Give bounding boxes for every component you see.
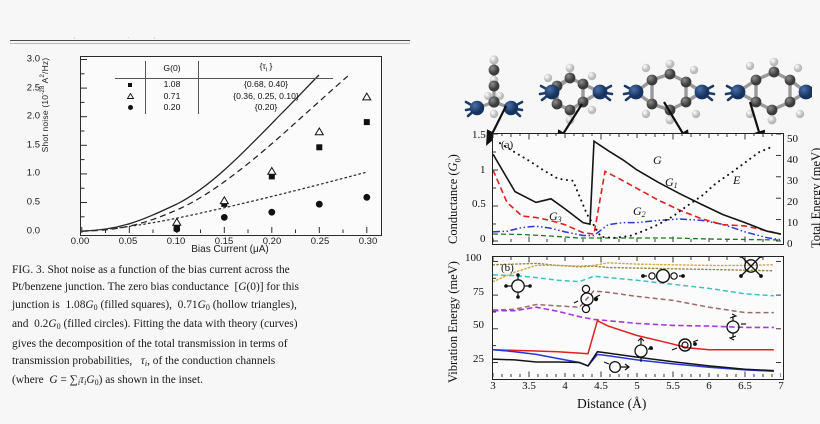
data-point [316, 144, 322, 150]
left-plot-y-axis-label: Shot noise (10-28 A2/Hz) [40, 20, 50, 190]
caption-line-5: gives the decomposition of the total tra… [12, 336, 416, 353]
inset-g0-value-1: 1.08 [146, 79, 199, 91]
panel-a-y2-tick-20: 20 [787, 202, 798, 214]
data-point [315, 128, 323, 135]
panel-a-y-tick-0: 0 [480, 239, 486, 251]
inset-tau-value-3: {0.20} [199, 102, 334, 114]
curve-label-G1: G1 [665, 175, 678, 190]
left-y-tick-3.0: 3.0 [2, 59, 40, 70]
shot-noise-figure: Shot noise (10-28 A2/Hz) 3.0 2.5 2.0 1.5… [12, 48, 412, 258]
panel-a-y2-tick-50: 50 [787, 139, 798, 151]
panel-b-y-tick-50: 50 [473, 325, 484, 337]
panel-a-y2-axis-label: Total Energy (meV) [809, 148, 820, 248]
caption-line-6: transmission probabilities, τi, of the c… [12, 353, 416, 372]
inset-header-g0: G(0) [146, 61, 199, 79]
caption-line-1: FIG. 3. Shot noise as a function of the … [12, 262, 416, 279]
svg-text:,: , [74, 34, 76, 39]
svg-text:.: . [128, 34, 130, 39]
data-point [220, 197, 228, 204]
inset-header-symbol [115, 61, 146, 79]
panel-b-x-tick-6.5: 6.5 [730, 380, 760, 392]
curve-mode-3 [493, 275, 774, 296]
panel-b-x-tick-5: 5 [622, 380, 652, 392]
figure-page: , . , Shot noise (10-28 A2/Hz) 3.0 2.5 2… [0, 0, 820, 424]
left-plot-x-axis-label: Bias Current (μA) [80, 244, 380, 255]
panel-a-y-tick-0.5: 0.5 [472, 204, 486, 216]
vibration-mode-icon-8 [604, 362, 629, 373]
panel-a-y2-tick-40: 40 [787, 160, 798, 172]
curve-label-G2: G2 [633, 204, 646, 219]
caption-line-3: junction is 1.08G0 (filled squares), 0.7… [12, 297, 416, 316]
inset-tau-value-2: {0.36, 0.25, 0.10} [199, 91, 334, 103]
panel-a-y-axis-label: Conductance (G0) [446, 154, 463, 244]
data-point [268, 168, 276, 175]
vibration-mode-icon-4 [739, 257, 763, 278]
panel-a-y-tick-1.5: 1.5 [472, 135, 486, 147]
svg-text:,: , [154, 34, 156, 39]
inset-row-2: 0.71 {0.36, 0.25, 0.10} [115, 91, 333, 103]
caption-line-4: and 0.2G0 (filled circles). Fitting the … [12, 316, 416, 335]
data-series-filled-circles [173, 194, 370, 233]
panel-b-x-tick-3.5: 3.5 [514, 380, 544, 392]
panel-b-x-tick-7: 7 [766, 380, 796, 392]
panel-a-y-tick-1: 1 [480, 170, 486, 182]
panel-a-chart-svg: (a) G G1 G2 G3 E [493, 134, 781, 242]
data-point [221, 214, 228, 221]
left-y-tick-2.5: 2.5 [2, 88, 40, 99]
inset-g0-value-3: 0.20 [146, 102, 199, 114]
panel-a-label: (a) [501, 139, 514, 151]
panel-b-y-tick-75: 75 [473, 292, 484, 304]
pt-benzene-stretching-figure: Conductance (G0) Total Energy (meV) 1.5 … [432, 8, 816, 418]
panel-a-y2-tick-30: 30 [787, 181, 798, 193]
panel-b-x-axis-label: Distance (Å) [577, 396, 646, 412]
inset-marker-filled-circle-icon [115, 102, 146, 114]
left-y-tick-1.0: 1.0 [2, 173, 40, 184]
panel-b-y-axis-label: Vibration Energy (meV) [446, 261, 461, 383]
curve-mode-1 [493, 263, 774, 282]
data-point [173, 219, 181, 226]
panel-b-y-tick-25: 25 [473, 359, 484, 371]
panel-a-plot-area: (a) G G1 G2 G3 E [492, 133, 784, 245]
left-y-tick-0.5: 0.5 [2, 202, 40, 213]
header-rule-secondary [10, 43, 410, 44]
left-plot-inset-table: G(0) {τi } 1.08 {0.68, 0.40} 0.71 {0.36,… [115, 61, 333, 117]
data-point [268, 209, 275, 216]
panel-b-x-tick-4.5: 4.5 [586, 380, 616, 392]
panel-b-plot-area: (b) [492, 256, 784, 380]
left-y-tick-1.5: 1.5 [2, 145, 40, 156]
left-plot-area: G(0) {τi } 1.08 {0.68, 0.40} 0.71 {0.36,… [80, 56, 382, 236]
panel-b-x-tick-3: 3 [478, 380, 508, 392]
data-point [364, 119, 370, 125]
left-y-tick-0.0: 0.0 [2, 231, 40, 242]
caption-line-2: Pt/benzene junction. The zero bias condu… [12, 279, 416, 296]
panel-b-x-tick-5.5: 5.5 [658, 380, 688, 392]
header-rule [10, 40, 410, 41]
caption-line-7: (where G = ∑iτiG0) as shown in the inset… [12, 372, 416, 391]
panel-b-chart-svg: (b) [493, 257, 781, 377]
header-artifacts-icon: , . , [60, 31, 190, 39]
curve-G2 [493, 219, 781, 240]
vibration-mode-icon-3 [641, 270, 685, 283]
curve-mode-2 [493, 263, 774, 270]
curve-label-E: E [732, 173, 741, 187]
data-point [363, 93, 371, 100]
inset-row-3: 0.20 {0.20} [115, 102, 333, 114]
inset-marker-hollow-triangle-icon [115, 91, 146, 103]
data-point [316, 201, 323, 208]
left-y-tick-2.0: 2.0 [2, 116, 40, 127]
inset-header-tau: {τi } [199, 61, 334, 79]
curve-E [500, 143, 774, 238]
panel-b-label: (b) [501, 262, 514, 274]
panel-b-x-tick-4: 4 [550, 380, 580, 392]
figure-caption: FIG. 3. Shot noise as a function of the … [12, 262, 416, 392]
panel-a-y2-tick-0: 0 [787, 244, 793, 256]
curve-label-G: G [653, 153, 662, 167]
data-point [173, 226, 180, 233]
inset-tau-value-1: {0.68, 0.40} [199, 79, 334, 91]
inset-marker-filled-square-icon [115, 79, 146, 91]
panel-a-y2-tick-10: 10 [787, 223, 798, 235]
inset-row-1: 1.08 {0.68, 0.40} [115, 79, 333, 91]
curve-label-G3: G3 [549, 209, 562, 224]
inset-g0-value-2: 0.71 [146, 91, 199, 103]
data-point [363, 194, 370, 201]
panel-b-y-tick-100: 100 [465, 258, 482, 270]
panel-b-x-tick-6: 6 [694, 380, 724, 392]
curve-mode-4 [493, 291, 774, 313]
